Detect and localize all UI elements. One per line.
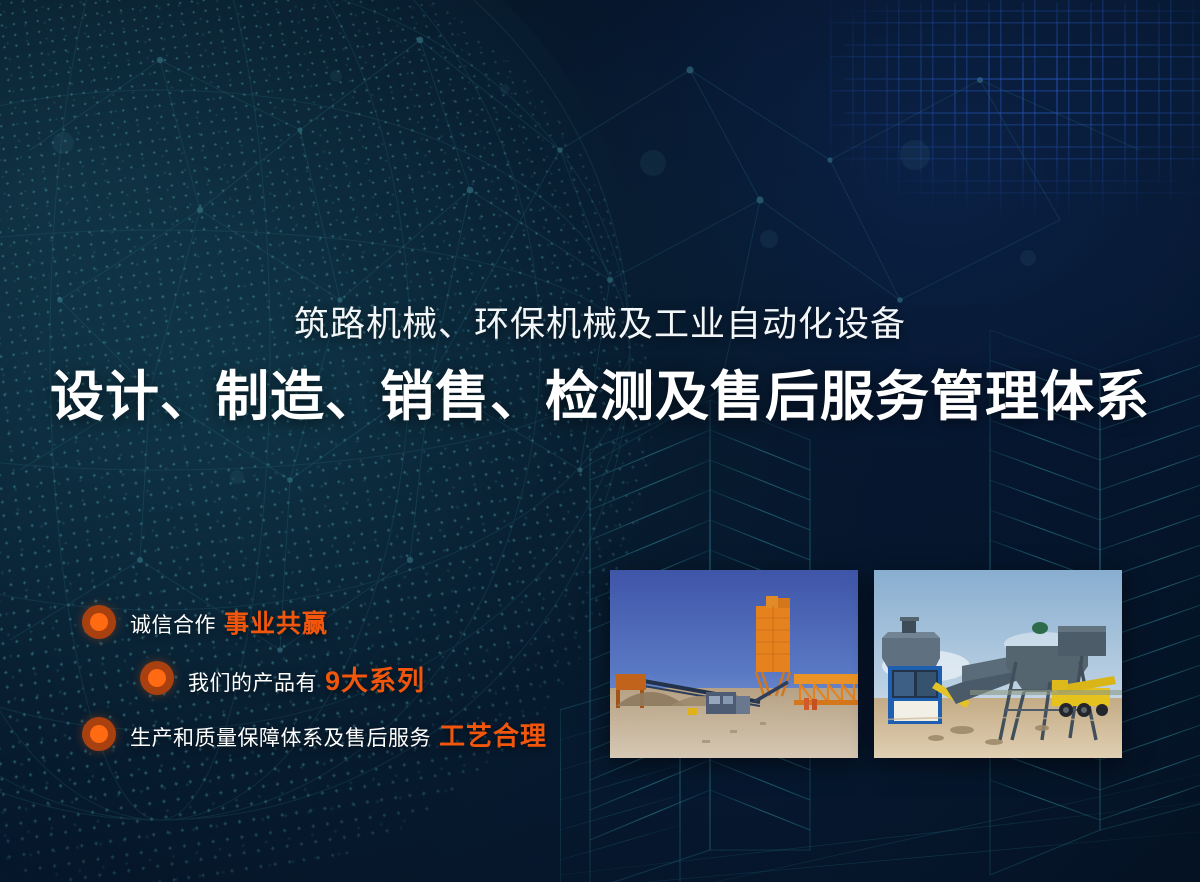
feature-bullet-list: 诚信合作事业共赢 我们的产品有9大系列 生产和质量保障体系及售后服务工艺合理 xyxy=(0,598,600,766)
banner-subtitle: 筑路机械、环保机械及工业自动化设备 xyxy=(0,303,1200,347)
photo-concrete-batching-plant xyxy=(610,570,858,758)
list-item: 生产和质量保障体系及售后服务工艺合理 xyxy=(0,710,600,758)
list-item: 诚信合作事业共赢 xyxy=(0,598,600,646)
promo-banner: 筑路机械、环保机械及工业自动化设备 设计、制造、销售、检测及售后服务管理体系 诚… xyxy=(0,0,1200,882)
bullet-label: 生产和质量保障体系及售后服务 xyxy=(130,727,431,750)
bullet-text: 生产和质量保障体系及售后服务工艺合理 xyxy=(130,716,547,753)
bullet-text: 我们的产品有9大系列 xyxy=(188,659,425,698)
bullet-text: 诚信合作事业共赢 xyxy=(130,604,328,640)
list-item: 我们的产品有9大系列 xyxy=(0,654,600,702)
bullet-label: 诚信合作 xyxy=(130,614,216,637)
bullet-dot-icon xyxy=(140,661,174,695)
bullet-dot-icon xyxy=(82,605,116,639)
photo-image xyxy=(610,570,858,758)
bullet-label: 我们的产品有 xyxy=(188,672,317,695)
bullet-highlight: 工艺合理 xyxy=(439,721,547,751)
banner-headline: 设计、制造、销售、检测及售后服务管理体系 xyxy=(0,366,1200,430)
photo-image xyxy=(874,570,1122,758)
bullet-highlight: 事业共赢 xyxy=(224,610,328,638)
bullet-dot-icon xyxy=(82,717,116,751)
bullet-highlight: 9大系列 xyxy=(325,666,425,696)
photo-mobile-mixing-plant xyxy=(874,570,1122,758)
